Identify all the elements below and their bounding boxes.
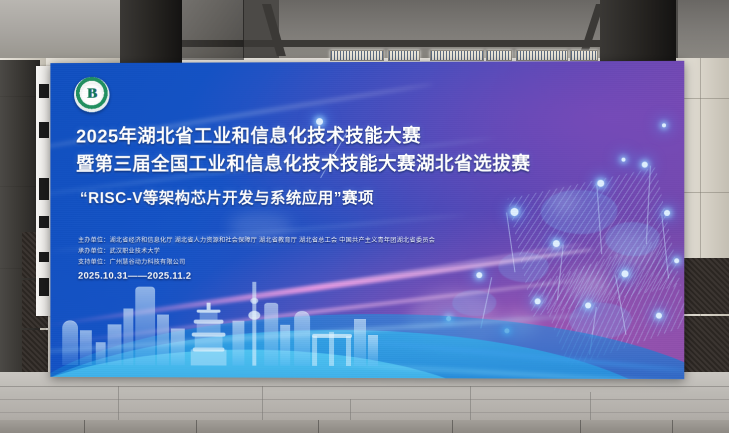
ceiling-light-panel (430, 50, 484, 61)
organizer-undertaker-value: 武汉职业技术大学 (110, 248, 161, 255)
pavement-seam (0, 386, 729, 387)
organizer-undertaker-label: 承办单位： (78, 248, 110, 255)
skyline-building (368, 335, 378, 366)
event-banner: B 2025年湖北省工业和信息化技术技能大赛 暨第三届全国工业和信息化技术技能大… (50, 61, 684, 379)
organizer-host-label: 主办单位： (78, 237, 110, 244)
organizer-supporter-line: 支持单位：广州慧谷动力科技有限公司 (78, 257, 185, 266)
skyline-building (62, 320, 78, 365)
pavement-seam (590, 392, 591, 420)
skyline-building (96, 342, 106, 365)
network-node (674, 258, 679, 263)
granite-base-block (682, 316, 729, 374)
seal-monogram: B (87, 86, 97, 103)
network-blob (605, 222, 660, 256)
network-node (585, 302, 591, 308)
ceiling-edge-beam (182, 40, 602, 47)
banner-subtitle-event-track: “RISC-V等架构芯片开发与系统应用”赛项 (80, 186, 374, 208)
network-node (597, 180, 604, 187)
university-seal-logo: B (74, 77, 110, 113)
pavement-seam (350, 399, 351, 420)
skyline-building (157, 315, 169, 366)
skyline-building (294, 311, 310, 366)
skyline-building (354, 319, 366, 366)
curb-seam (452, 420, 453, 433)
network-node (621, 158, 625, 162)
organizer-host-line: 主办单位：湖北省经济和信息化厅 湖北省人力资源和社会保障厅 湖北省教育厅 湖北省… (78, 235, 435, 244)
pavement-seam (262, 386, 263, 420)
curb-seam (672, 420, 673, 433)
network-node (662, 123, 666, 127)
skyline-building (232, 321, 244, 366)
curb-seam (580, 420, 581, 433)
pavement-seam (0, 399, 729, 400)
organizer-supporter-label: 支持单位： (78, 259, 110, 266)
curb-seam (318, 420, 319, 433)
skyline-building (171, 329, 185, 366)
skyline-building (135, 287, 155, 366)
skyline-building (80, 330, 92, 365)
network-node (535, 298, 541, 304)
granite-base-block (22, 330, 48, 374)
organizer-undertaker-line: 承办单位：武汉职业技术大学 (78, 246, 160, 255)
curb-seam (84, 420, 85, 433)
organizer-supporter-value: 广州慧谷动力科技有限公司 (110, 259, 186, 266)
network-node (510, 208, 518, 216)
network-node (664, 210, 670, 216)
skyline-building (123, 308, 133, 365)
organizer-host-value: 湖北省经济和信息化厅 湖北省人力资源和社会保障厅 湖北省教育厅 湖北省总工会 中… (110, 237, 436, 244)
granite-base-block (682, 258, 729, 314)
ceiling-light-panel (570, 50, 598, 61)
photo-scene: B 2025年湖北省工业和信息化技术技能大赛 暨第三届全国工业和信息化技术技能大… (0, 0, 729, 433)
pavement-seam (0, 412, 729, 413)
network-node (656, 313, 662, 319)
banner-title-line-1: 2025年湖北省工业和信息化技术技能大赛 (76, 122, 421, 149)
ceiling-light-panel (388, 50, 420, 61)
network-node (621, 270, 628, 277)
yellow-crane-tower (187, 304, 231, 366)
curb-strip (0, 420, 729, 433)
banner-title-line-2: 暨第三届全国工业和信息化技术技能大赛湖北省选拔赛 (76, 150, 531, 177)
network-node (476, 272, 482, 278)
skyline-building (280, 325, 290, 366)
ceiling-light-panel (516, 50, 568, 61)
event-date-range: 2025.10.31——2025.11.2 (78, 271, 191, 282)
ceiling-light-panel (486, 50, 512, 61)
tv-tower (248, 282, 260, 366)
network-blob (541, 190, 618, 234)
curb-seam (196, 420, 197, 433)
pavement-seam (470, 386, 471, 420)
skyline-building (264, 303, 278, 366)
ceiling-light-panel (330, 50, 384, 61)
memorial-gate (312, 332, 352, 366)
pavement-seam (118, 386, 119, 420)
network-node (642, 162, 648, 168)
city-skyline-graphic (56, 280, 384, 372)
skyline-building (108, 324, 122, 365)
dark-column (182, 0, 244, 60)
